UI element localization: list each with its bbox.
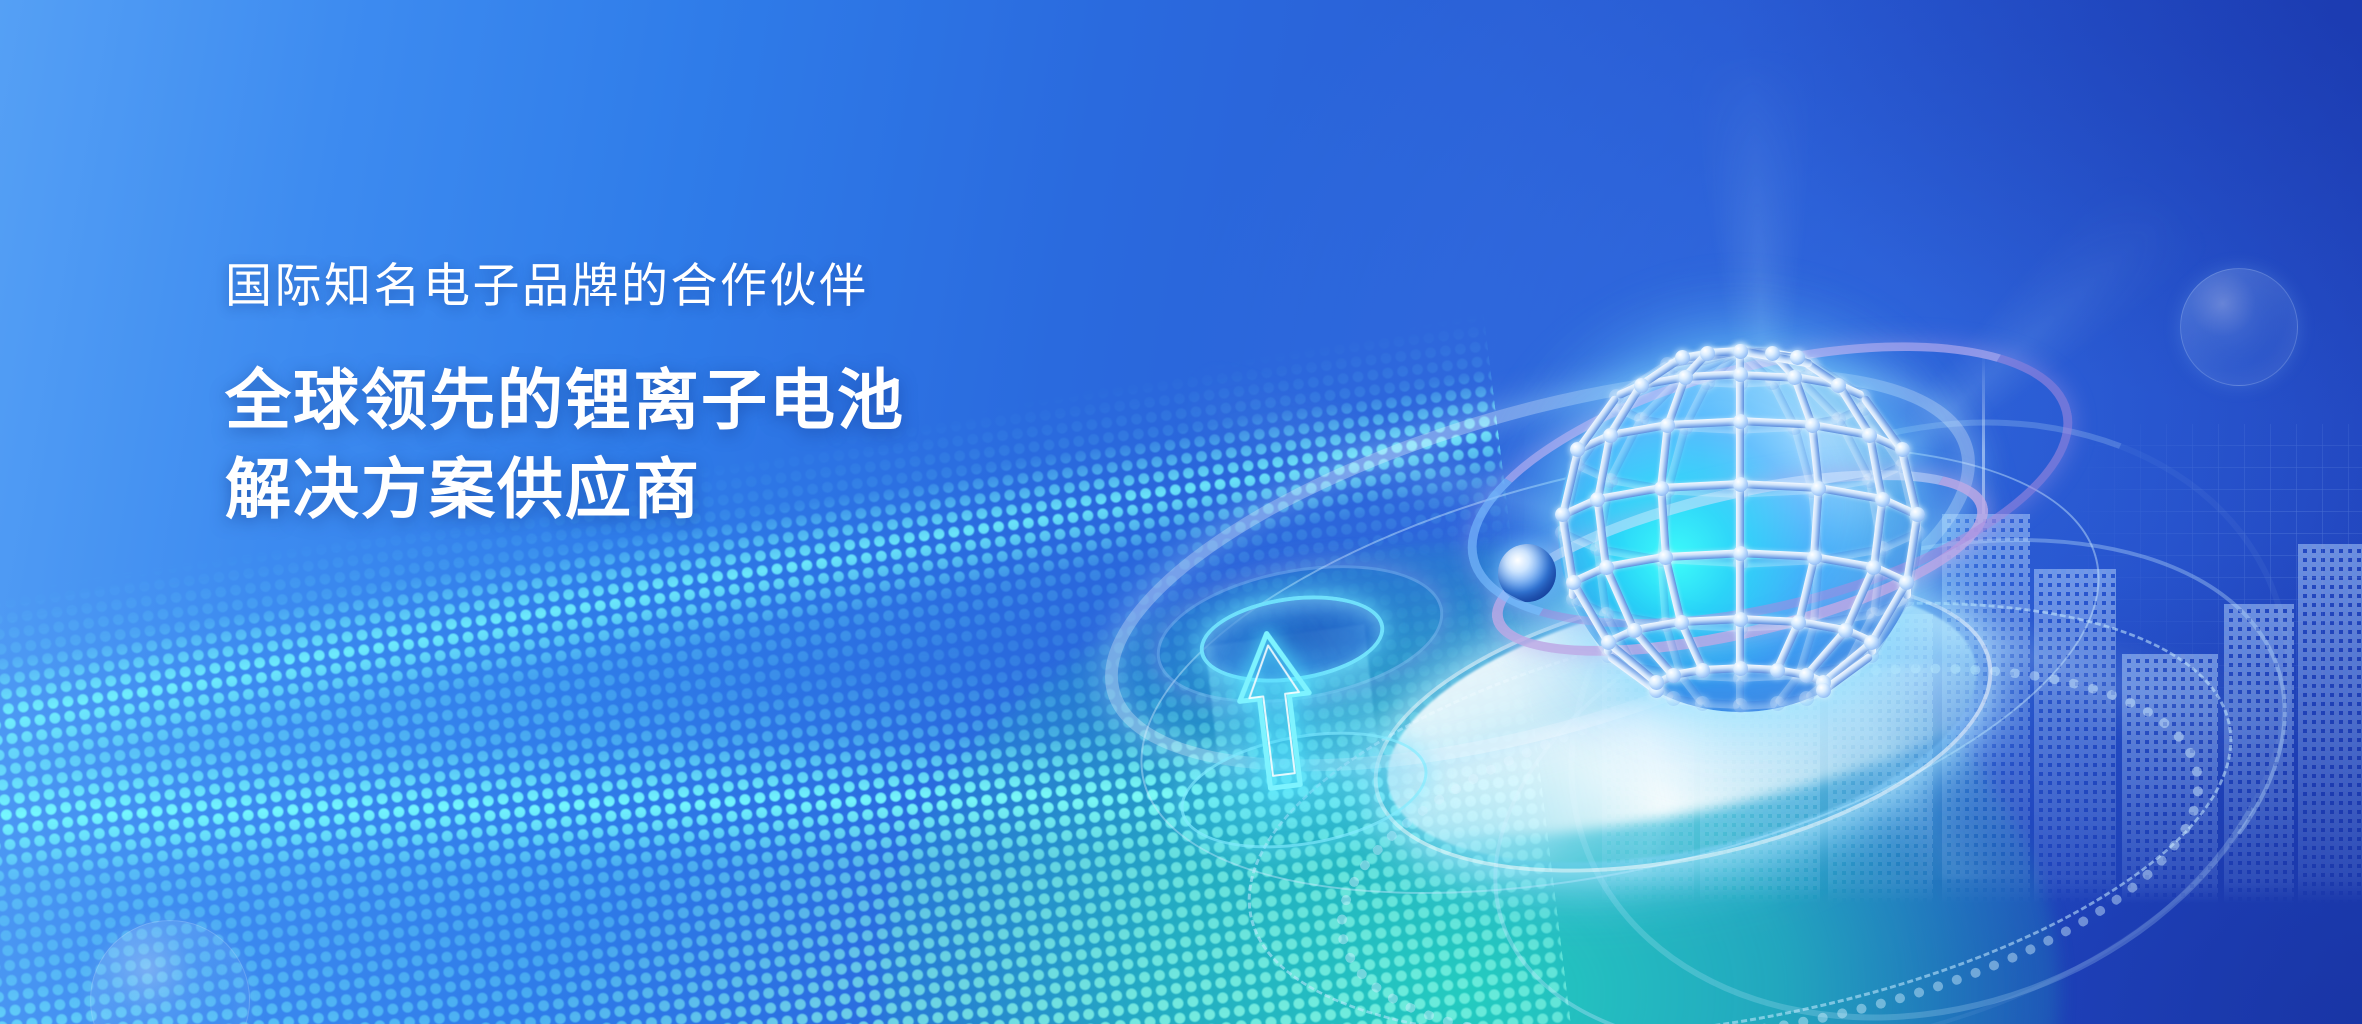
building	[2298, 544, 2362, 904]
globe-node	[1805, 418, 1820, 433]
building	[2034, 569, 2116, 904]
globe-node	[1654, 481, 1669, 496]
globe-wireframe	[1540, 330, 1940, 730]
globe-node	[1733, 477, 1748, 492]
globe-node	[1733, 367, 1748, 382]
globe-node	[1695, 663, 1710, 678]
globe-node	[1799, 691, 1814, 706]
globe-node	[1666, 668, 1681, 683]
globe-node	[1634, 378, 1649, 393]
hero-headline: 全球领先的锂离子电池 解决方案供应商	[225, 356, 1225, 533]
globe-node	[1675, 350, 1690, 365]
globe-node	[1791, 615, 1806, 630]
hero-eyebrow: 国际知名电子品牌的合作伙伴	[225, 258, 1225, 314]
building	[2224, 604, 2294, 904]
globe-node	[1895, 442, 1910, 457]
globe-node	[1733, 344, 1748, 359]
globe-node	[1695, 696, 1710, 711]
globe-node	[1866, 607, 1881, 622]
globe-node	[1660, 418, 1675, 433]
globe-node	[1603, 428, 1618, 443]
upward-arrow-portal-icon	[1185, 575, 1435, 835]
globe-node	[1658, 550, 1673, 565]
globe-node	[1601, 635, 1616, 650]
globe-node	[1733, 414, 1748, 429]
bubble-icon	[2180, 268, 2298, 386]
globe-node	[1807, 550, 1822, 565]
globe-node	[1765, 346, 1780, 361]
globe-node	[1733, 546, 1748, 561]
globe-node	[1627, 623, 1642, 638]
globe-node	[1566, 575, 1581, 590]
hero-banner: 国际知名电子品牌的合作伙伴 全球领先的锂离子电池 解决方案供应商	[0, 0, 2362, 1024]
globe-node	[1811, 481, 1826, 496]
globe-node	[1666, 691, 1681, 706]
globe-strut	[1736, 553, 1744, 619]
circuit-board-icon	[2062, 424, 2362, 754]
bubble-icon	[90, 920, 250, 1024]
globe-node	[1770, 663, 1785, 678]
wireframe-globe-icon	[1540, 330, 1940, 730]
globe-strut	[1736, 421, 1744, 484]
hero-headline-line-1: 全球领先的锂离子电池	[225, 356, 1225, 444]
globe-node	[1831, 378, 1846, 393]
globe-node	[1599, 607, 1614, 622]
globe-node	[1674, 615, 1689, 630]
globe-node	[1733, 698, 1748, 713]
hero-copy: 国际知名电子品牌的合作伙伴 全球领先的锂离子电池 解决方案供应商	[225, 258, 1225, 533]
globe-node	[1770, 696, 1785, 711]
globe-node	[1733, 612, 1748, 627]
globe-node	[1678, 370, 1693, 385]
globe-node	[1799, 668, 1814, 683]
globe-node	[1700, 346, 1715, 361]
globe-node	[1590, 492, 1605, 507]
globe-strut	[1736, 484, 1744, 553]
globe-satellite-node	[1498, 544, 1556, 602]
hero-headline-line-2: 解决方案供应商	[225, 445, 1225, 533]
globe-node	[1733, 661, 1748, 676]
building	[2122, 654, 2218, 904]
globe-node	[1875, 492, 1890, 507]
globe-node	[1599, 560, 1614, 575]
globe-node	[1816, 683, 1831, 698]
